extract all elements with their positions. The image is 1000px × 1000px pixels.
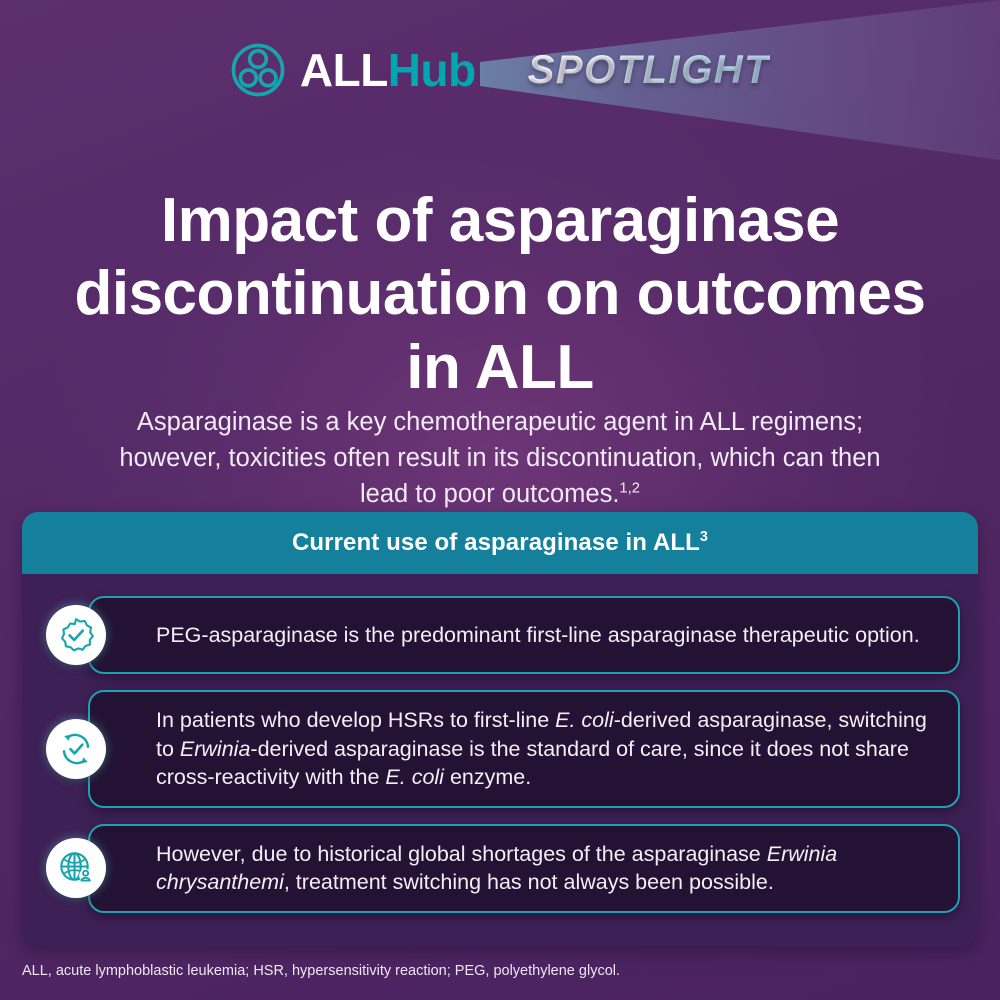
brand-wordmark: ALLHub bbox=[300, 47, 476, 93]
page-title: Impact of asparaginase discontinuation o… bbox=[60, 184, 940, 405]
list-item-text: In patients who develop HSRs to first-li… bbox=[90, 692, 958, 806]
verified-badge-check-icon bbox=[46, 605, 106, 665]
subtitle-citation: 1,2 bbox=[619, 480, 640, 496]
subtitle-text: Asparaginase is a key chemotherapeutic a… bbox=[119, 408, 880, 508]
current-use-panel: Current use of asparaginase in ALL3 PEG-… bbox=[22, 512, 978, 946]
allhub-cells-logo-icon bbox=[230, 42, 286, 98]
panel-header-label: Current use of asparaginase in ALL bbox=[292, 529, 700, 556]
list-item: However, due to historical global shorta… bbox=[88, 824, 960, 913]
panel-body: PEG-asparaginase is the predominant firs… bbox=[22, 574, 978, 933]
page-subtitle: Asparaginase is a key chemotherapeutic a… bbox=[110, 404, 890, 513]
brand-header: ALLHub SPOTLIGHT bbox=[0, 30, 1000, 110]
list-item-text: PEG-asparaginase is the predominant firs… bbox=[90, 607, 942, 664]
panel-header-citation: 3 bbox=[700, 529, 708, 545]
brand-name-secondary: Hub bbox=[388, 44, 476, 96]
sync-refresh-check-icon bbox=[46, 719, 106, 779]
series-label-spotlight: SPOTLIGHT bbox=[528, 50, 770, 90]
abbreviations-footnote: ALL, acute lymphoblastic leukemia; HSR, … bbox=[22, 962, 962, 981]
list-item: PEG-asparaginase is the predominant firs… bbox=[88, 596, 960, 674]
globe-user-icon bbox=[46, 838, 106, 898]
list-item: In patients who develop HSRs to first-li… bbox=[88, 690, 960, 808]
panel-header-title: Current use of asparaginase in ALL3 bbox=[292, 529, 708, 557]
infographic-root: ALLHub SPOTLIGHT Impact of asparaginase … bbox=[0, 0, 1000, 1000]
list-item-text: However, due to historical global shorta… bbox=[90, 826, 958, 911]
panel-header: Current use of asparaginase in ALL3 bbox=[22, 512, 978, 574]
brand-name-primary: ALL bbox=[300, 44, 388, 96]
